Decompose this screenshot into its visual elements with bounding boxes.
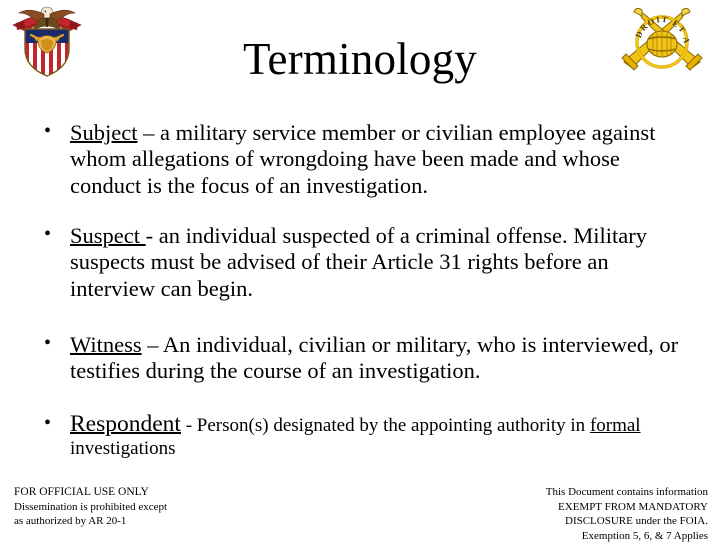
definition-suspect: - an individual suspected of a criminal …	[70, 223, 647, 301]
bullet-item-suspect: •Suspect - an individual suspected of a …	[36, 223, 684, 302]
term-subject: Subject	[70, 120, 138, 145]
footer-foia-notice: This Document contains information EXEMP…	[468, 485, 708, 544]
bullet-marker: •	[44, 223, 51, 246]
footer-right-line-4: Exemption 5, 6, & 7 Applies	[468, 529, 708, 544]
emphasis-formal: formal	[590, 415, 641, 436]
definition-subject: – a military service member or civilian …	[70, 120, 655, 198]
bullet-item-respondent: •Respondent - Person(s) designated by th…	[36, 411, 684, 461]
footer-right-line-2: EXEMPT FROM MANDATORY	[468, 500, 708, 515]
definition-witness: – An individual, civilian or military, w…	[70, 332, 678, 383]
footer-right-line-1: This Document contains information	[468, 485, 708, 500]
term-witness: Witness	[70, 332, 142, 357]
term-suspect: Suspect	[70, 223, 146, 248]
definition-respondent-before: - Person(s) designated by the appointing…	[181, 415, 590, 436]
bullet-item-witness: •Witness – An individual, civilian or mi…	[36, 332, 684, 385]
bullet-marker: •	[44, 332, 51, 355]
footer-right-line-3: DISCLOSURE under the FOIA.	[468, 514, 708, 529]
footer-distribution-notice: FOR OFFICIAL USE ONLY Dissemination is p…	[14, 485, 167, 528]
bullet-list: •Subject – a military service member or …	[36, 120, 684, 460]
bullet-item-subject: •Subject – a military service member or …	[36, 120, 684, 199]
footer-left-line-2: Dissemination is prohibited except	[14, 500, 167, 514]
footer-left-line-3: as authorized by AR 20-1	[14, 514, 167, 528]
bullet-marker: •	[44, 412, 51, 435]
slide-canvas: DROIT ET AVANT Terminology •Subject – a …	[0, 0, 720, 540]
footer-left-line-1: FOR OFFICIAL USE ONLY	[14, 485, 167, 500]
definition-respondent-after: investigations	[70, 438, 176, 459]
term-respondent: Respondent	[70, 411, 181, 437]
army-ig-crest-icon	[11, 1, 83, 79]
bullet-marker: •	[44, 120, 51, 143]
slide-title: Terminology	[90, 36, 630, 83]
